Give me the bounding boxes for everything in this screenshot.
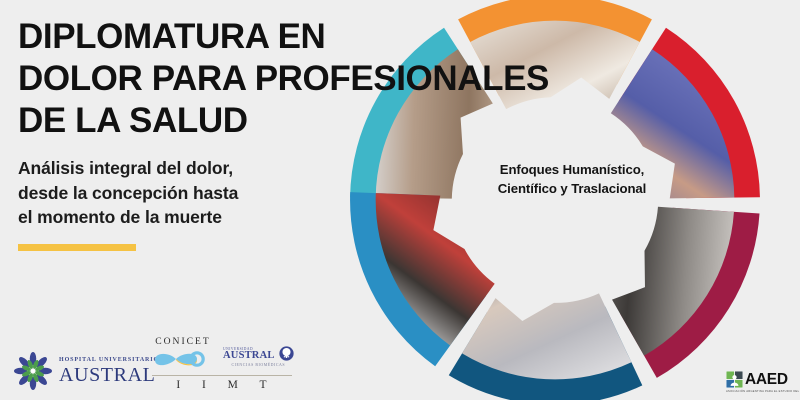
iimt-letter: T xyxy=(260,379,268,391)
poster-canvas: Enfoques Humanístico, Científico y Trasl… xyxy=(0,0,800,400)
page-title: DIPLOMATURA EN DOLOR PARA PROFESIONALES … xyxy=(18,16,618,142)
iimt-acronym: I I M T xyxy=(152,379,292,391)
aaed-badge-icon xyxy=(726,371,743,388)
logo-conicet: CONICET xyxy=(152,336,214,370)
conicet-wordmark: CONICET xyxy=(152,336,214,347)
austral-university-name: AUSTRAL xyxy=(223,350,275,361)
logo-hospital-universitario-austral: HOSPITAL UNIVERSITARIO AUSTRAL xyxy=(14,352,159,390)
iimt-letter: I xyxy=(202,379,207,391)
page-subtitle: Análisis integral del dolor, desde la co… xyxy=(18,156,618,230)
logo-aaed: AAED ASOCIACIÓN ARGENTINA PARA EL ESTUDI… xyxy=(726,371,800,393)
aaed-subtitle: ASOCIACIÓN ARGENTINA PARA EL ESTUDIO DEL… xyxy=(726,390,800,393)
austral-kicker: HOSPITAL UNIVERSITARIO xyxy=(59,357,159,363)
iimt-letter: M xyxy=(228,379,239,391)
tree-icon xyxy=(279,346,294,361)
iimt-divider xyxy=(152,375,292,376)
austral-ciencias-biomedicas-subtitle: CIENCIAS BIOMÉDICAS xyxy=(223,363,294,367)
accent-bar xyxy=(18,244,136,251)
logo-conicet-iimt-group: CONICET UNIVERSIDAD AUSTRAL xyxy=(152,336,292,391)
austral-flower-icon xyxy=(14,352,52,390)
infinity-ribbon-icon xyxy=(152,348,214,370)
logo-austral-ciencias-biomedicas: UNIVERSIDAD AUSTRAL CIENCIAS BIOMÉDICAS xyxy=(223,346,294,370)
austral-name: AUSTRAL xyxy=(59,365,159,385)
iimt-letter: I xyxy=(176,379,181,391)
headline-block: DIPLOMATURA EN DOLOR PARA PROFESIONALES … xyxy=(18,16,618,251)
austral-wordmark: HOSPITAL UNIVERSITARIO AUSTRAL xyxy=(59,357,159,385)
aaed-wordmark: AAED xyxy=(745,372,788,388)
